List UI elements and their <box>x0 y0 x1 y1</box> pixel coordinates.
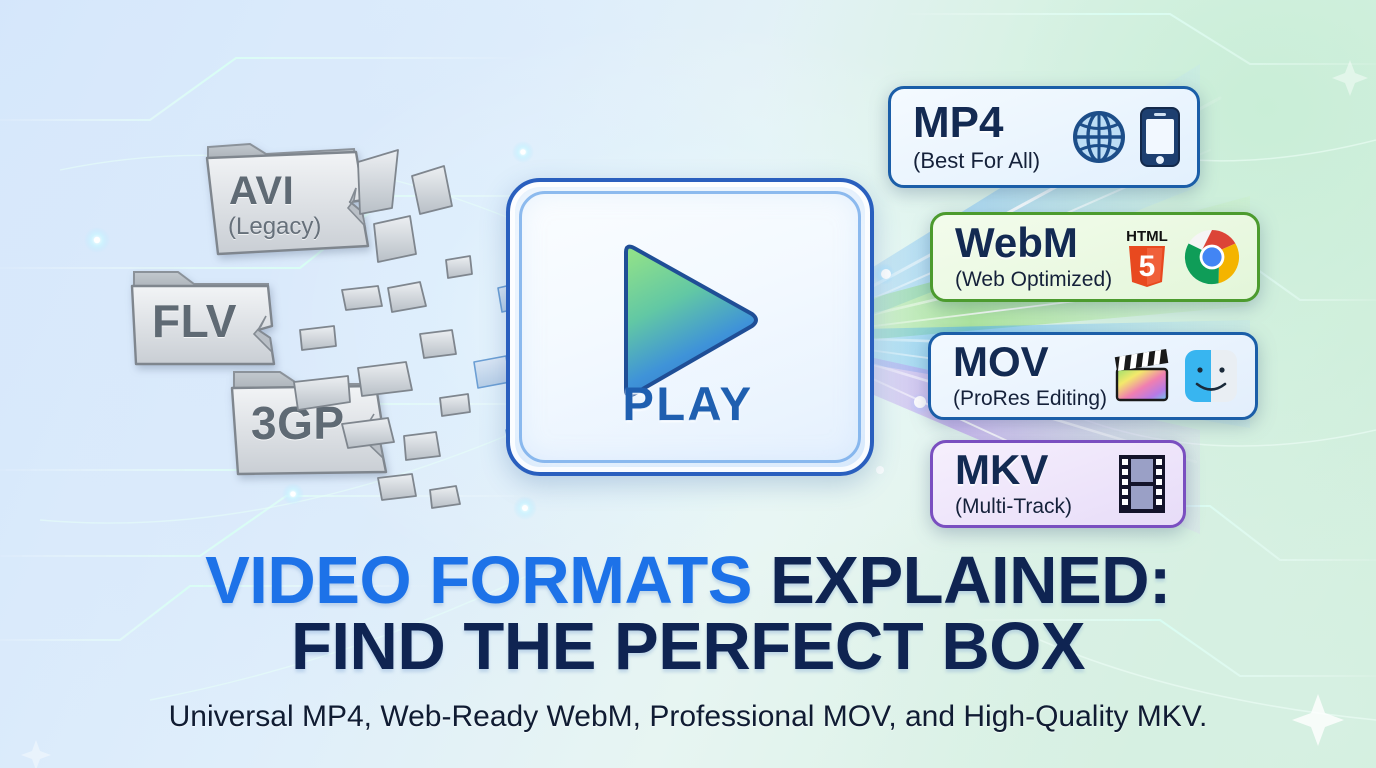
format-subtitle-webm: (Web Optimized) <box>955 268 1123 291</box>
film-strip-icon <box>1117 453 1167 515</box>
format-card-mkv[interactable]: MKV (Multi-Track) <box>930 440 1186 528</box>
smartphone-icon <box>1139 106 1181 168</box>
finder-icon <box>1183 348 1239 404</box>
headline-rest: EXPLAINED: <box>752 543 1171 618</box>
headline-line-1: VIDEO FORMATS EXPLAINED: <box>0 548 1376 614</box>
format-name-webm: WebM <box>955 222 1123 264</box>
clapperboard-icon <box>1113 349 1171 403</box>
headline-highlight: VIDEO FORMATS <box>205 543 752 618</box>
legacy-label-avi: AVI <box>229 169 294 214</box>
headline-block: VIDEO FORMATS EXPLAINED: FIND THE PERFEC… <box>0 548 1376 681</box>
chrome-icon <box>1183 228 1241 286</box>
format-subtitle-mp4: (Best For All) <box>913 149 1071 173</box>
infographic-canvas: AVI (Legacy) FLV 3GP <box>0 0 1376 768</box>
format-subtitle-mkv: (Multi-Track) <box>955 495 1117 518</box>
format-name-mp4: MP4 <box>913 101 1071 145</box>
svg-text:HTML: HTML <box>1126 228 1168 245</box>
html5-icon: HTML 5 <box>1123 226 1171 288</box>
headline-line-2: FIND THE PERFECT BOX <box>0 614 1376 680</box>
legacy-label-flv: FLV <box>152 294 237 348</box>
subheadline: Universal MP4, Web-Ready WebM, Professio… <box>0 700 1376 734</box>
format-subtitle-mov: (ProRes Editing) <box>953 387 1113 410</box>
format-card-mov[interactable]: MOV (ProRes Editing) <box>928 332 1258 420</box>
format-card-mp4[interactable]: MP4 (Best For All) <box>888 86 1200 188</box>
format-card-webm[interactable]: WebM (Web Optimized) HTML 5 <box>930 212 1260 302</box>
legacy-sublabel-avi: (Legacy) <box>228 213 321 241</box>
format-name-mkv: MKV <box>955 449 1117 491</box>
format-name-mov: MOV <box>953 341 1113 383</box>
globe-icon <box>1071 109 1127 165</box>
svg-text:5: 5 <box>1139 250 1156 283</box>
